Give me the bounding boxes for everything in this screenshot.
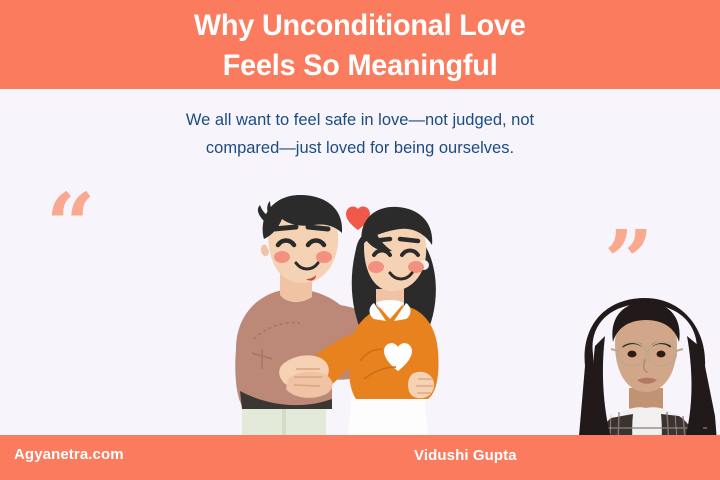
quote-section: “ We all want to feel safe in love—not j… <box>0 89 720 199</box>
quote-close-mark-icon: ” <box>604 220 653 306</box>
author-name-label: Vidushi Gupta <box>414 447 517 464</box>
social-quote-poster: Why Unconditional Love Feels So Meaningf… <box>0 0 720 480</box>
quote-text-line-2: compared—just loved for being ourselves. <box>120 134 600 162</box>
woman-blush-left <box>368 261 384 273</box>
woman-blush-right <box>408 261 424 273</box>
man-hand-on-waist <box>408 372 434 399</box>
footer-banner: Agyanetra.com Vidushi Gupta <box>0 435 720 480</box>
quote-text: We all want to feel safe in love—not jud… <box>120 106 600 162</box>
couple-embracing-illustration <box>228 193 464 435</box>
man-blush-left <box>274 251 290 263</box>
quote-text-line-1: We all want to feel safe in love—not jud… <box>120 106 600 134</box>
man-blush-right <box>316 251 332 263</box>
header-banner: Why Unconditional Love Feels So Meaningf… <box>0 0 720 89</box>
site-name-label: Agyanetra.com <box>14 446 124 463</box>
page-title-line-1: Why Unconditional Love <box>194 6 526 46</box>
quote-open-mark-icon: “ <box>46 183 95 269</box>
page-title-line-2: Feels So Meaningful <box>223 46 498 86</box>
